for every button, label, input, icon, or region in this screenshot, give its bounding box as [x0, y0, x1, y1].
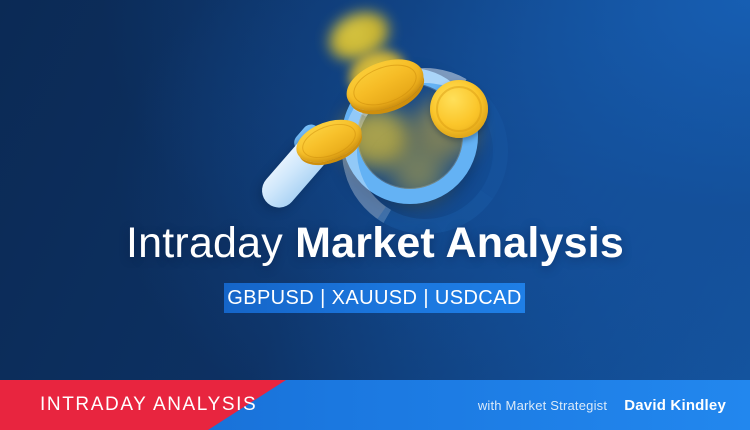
magnifier-coins-illustration [250, 0, 520, 215]
presenter-name: David Kindley [624, 397, 726, 414]
page-title-bold: Market Analysis [295, 219, 624, 267]
page-title-light: Intraday [126, 219, 295, 267]
currency-pairs-label: GBPUSD | XAUUSD | USDCAD [227, 287, 521, 310]
category-label: INTRADAY ANALYSIS [40, 380, 257, 430]
promo-banner-canvas: Intraday Market Analysis GBPUSD | XAUUSD… [0, 0, 750, 430]
presenter-role-label: with Market Strategist [478, 398, 607, 413]
presenter-block: with Market Strategist David Kindley [478, 380, 726, 430]
gold-coin-icon-right [430, 80, 488, 138]
currency-pairs-bar: GBPUSD | XAUUSD | USDCAD [224, 283, 525, 313]
page-title: Intraday Market Analysis [0, 222, 750, 265]
bottom-banner: INTRADAY ANALYSIS with Market Strategist… [0, 380, 750, 430]
